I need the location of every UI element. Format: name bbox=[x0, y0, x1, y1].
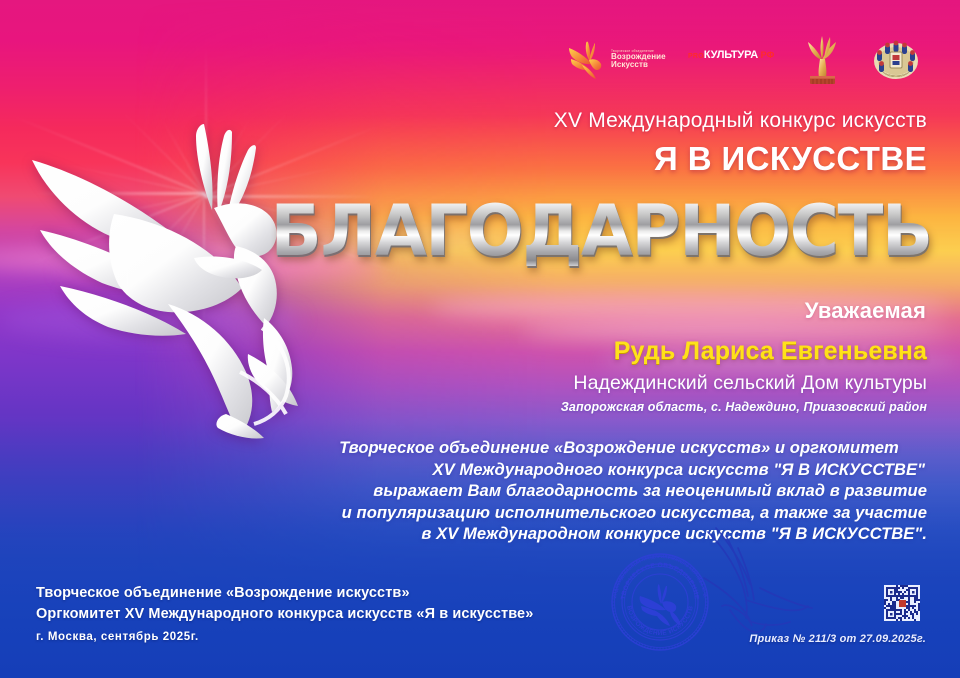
footer-org-line-1: Творческое объединение «Возрождение иску… bbox=[36, 583, 533, 604]
pro-label: PRO bbox=[688, 53, 704, 60]
body-line: выражает Вам благодарность за неоценимый… bbox=[309, 480, 929, 502]
contest-name: Я В ИСКУССТВЕ bbox=[654, 140, 927, 178]
kultura-label: КУЛЬТУРА bbox=[704, 49, 758, 61]
verification-qr-code[interactable] bbox=[884, 585, 920, 621]
seal-phoenix-icon bbox=[640, 584, 681, 626]
logo-title-line-2: Искусств bbox=[611, 61, 666, 69]
award-statuette-icon[interactable] bbox=[800, 34, 844, 86]
winged-dancer-figure bbox=[18, 118, 358, 458]
order-number: Приказ № 211/3 от 27.09.2025г. bbox=[749, 633, 926, 645]
footer-block: Творческое объединение «Возрождение иску… bbox=[36, 583, 533, 643]
rf-label: .РФ bbox=[758, 50, 774, 60]
award-title: БЛАГОДАРНОСТЬ bbox=[271, 196, 932, 266]
footer-city-date: г. Москва, сентябрь 2025г. bbox=[36, 631, 533, 643]
body-line: Творческое объединение «Возрождение иску… bbox=[309, 437, 929, 459]
pro-kultura-rf-logo[interactable]: PRO КУЛЬТУРА .РФ bbox=[688, 49, 774, 61]
heraldic-emblem-icon[interactable] bbox=[872, 36, 920, 84]
phoenix-bird-icon bbox=[566, 39, 606, 79]
contest-line: XV Международный конкурс искусств bbox=[554, 109, 927, 133]
body-line: XV Международного конкурса искусств "Я В… bbox=[309, 459, 929, 481]
top-logo-row: Творческое объединение Возрождение Искус… bbox=[566, 32, 946, 88]
recipient-name: Рудь Лариса Евгеньевна bbox=[614, 337, 927, 366]
vozrozhdenie-iskusstv-logo[interactable]: Творческое объединение Возрождение Искус… bbox=[566, 36, 686, 82]
footer-org-line-2: Оргкомитет XV Международного конкурса ис… bbox=[36, 604, 533, 625]
handwritten-signature bbox=[700, 526, 850, 646]
recipient-location: Запорожская область, с. Надеждино, Приаз… bbox=[561, 400, 927, 414]
recipient-organization: Надеждинский сельский Дом культуры bbox=[573, 372, 927, 395]
salutation: Уважаемая bbox=[805, 298, 926, 324]
body-line: и популяризацию исполнительского искусст… bbox=[309, 502, 929, 524]
certificate-canvas: Творческое объединение Возрождение Искус… bbox=[0, 0, 960, 678]
